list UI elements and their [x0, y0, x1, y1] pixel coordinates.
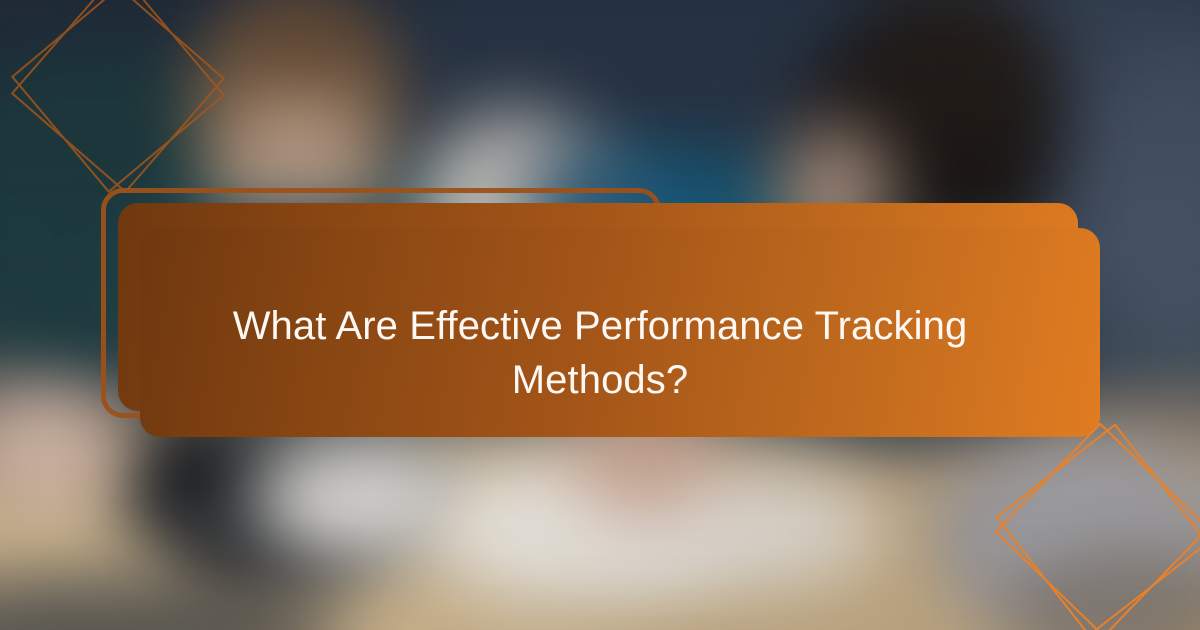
rotated-square-icon	[995, 423, 1200, 630]
page-title: What Are Effective Performance Tracking …	[170, 299, 1030, 407]
decor-squares-bottom-right	[1000, 432, 1200, 630]
share-card-canvas: What Are Effective Performance Tracking …	[0, 0, 1200, 630]
rotated-square-icon	[11, 0, 225, 193]
decor-squares-top-left	[12, 0, 222, 207]
